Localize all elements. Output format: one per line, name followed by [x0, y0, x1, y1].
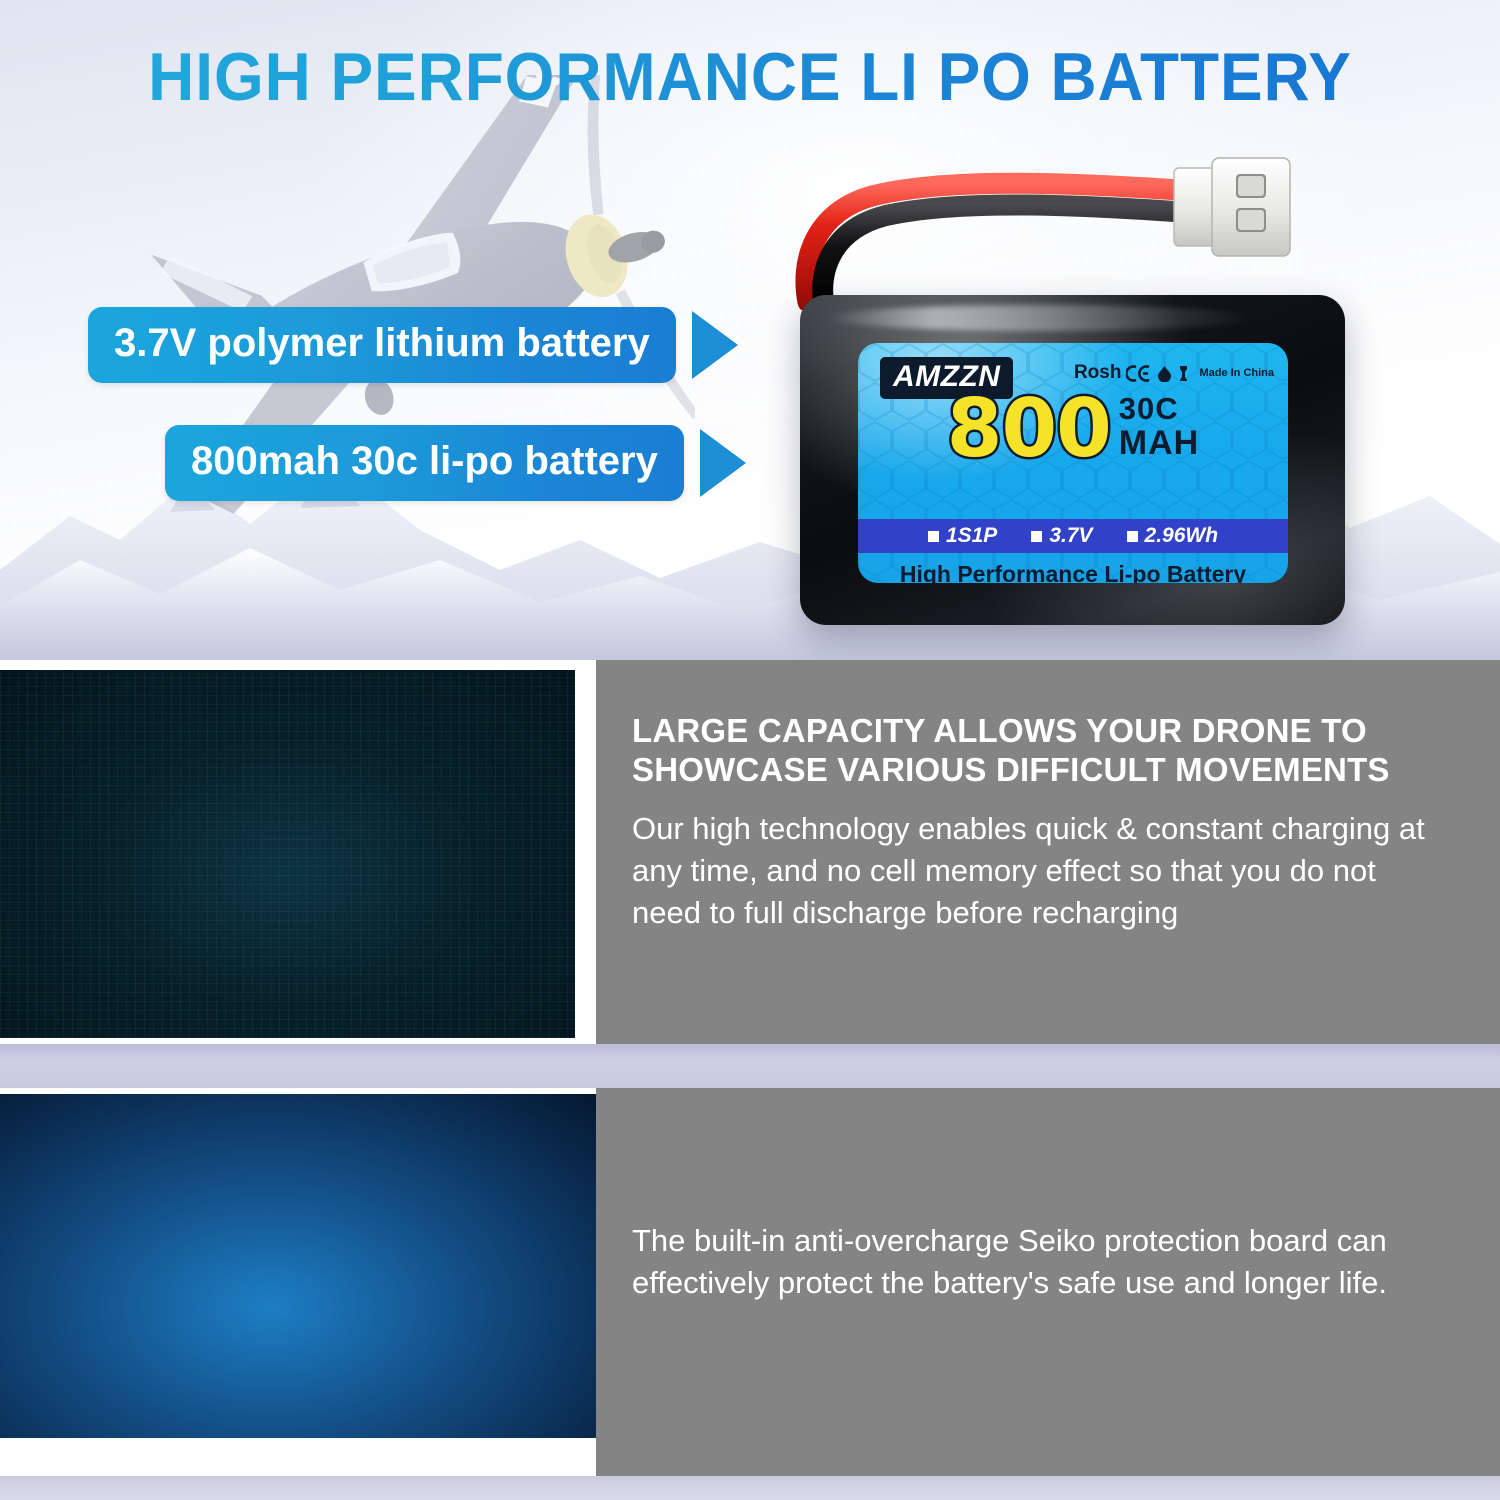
protection-panel-body: The built-in anti-overcharge Seiko prote… [632, 1220, 1452, 1304]
hero-section: 167 HIGH PERFORMANCE LI PO BATTERY 3.7V … [0, 0, 1500, 660]
battery-pack-body: AMZZN Rosh Made In China [800, 295, 1345, 625]
spec-item: 3.7V [1031, 524, 1092, 548]
certification-marks: Rosh Made In China [1074, 362, 1274, 384]
page-title: HIGH PERFORMANCE LI PO BATTERY [45, 38, 1455, 116]
circuit-board-image [0, 1094, 600, 1438]
recycle-droplet-icon [1157, 365, 1172, 382]
protection-board-text-panel: The built-in anti-overcharge Seiko prote… [596, 1088, 1500, 1476]
battery-charge-gauge-image [0, 670, 575, 1038]
battery-tagline: High Performance Li-po Battery [858, 561, 1288, 583]
capacity-unit: MAH [1119, 426, 1199, 460]
rosh-label: Rosh [1074, 362, 1122, 384]
spec-stripe: 1S1P 3.7V 2.96Wh [858, 519, 1288, 553]
spec-item: 1S1P [928, 524, 997, 548]
capacity-panel-heading: LARGE CAPACITY ALLOWS YOUR DRONE TO SHOW… [632, 712, 1452, 790]
capacity-unit-block: 30C MAH [1119, 393, 1199, 460]
triangle-right-icon [692, 311, 738, 379]
mountain-band-bottom [0, 1476, 1500, 1500]
mountain-band-middle [0, 1044, 1500, 1088]
callout-capacity: 800mah 30c li-po battery [165, 425, 746, 501]
battery-label: AMZZN Rosh Made In China [858, 343, 1288, 583]
callout-voltage: 3.7V polymer lithium battery [88, 307, 738, 383]
battery-wires [760, 150, 1380, 310]
spec-item: 2.96Wh [1127, 524, 1219, 548]
origin-label: Made In China [1199, 367, 1274, 379]
triangle-right-icon [700, 429, 746, 497]
capacity-row: 800 30C MAH [858, 391, 1288, 467]
capacity-text-panel: LARGE CAPACITY ALLOWS YOUR DRONE TO SHOW… [596, 660, 1500, 1044]
capacity-value: 800 [947, 391, 1111, 467]
ce-mark-icon [1126, 365, 1152, 382]
crossed-out-bin-icon [1177, 365, 1190, 382]
capacity-panel-body: Our high technology enables quick & cons… [632, 808, 1452, 934]
discharge-rate: 30C [1119, 393, 1199, 424]
callout-capacity-label: 800mah 30c li-po battery [165, 425, 684, 501]
jst-2pin-connector [1174, 158, 1290, 256]
callout-voltage-label: 3.7V polymer lithium battery [88, 307, 676, 383]
battery-product-image: AMZZN Rosh Made In China [760, 150, 1380, 630]
